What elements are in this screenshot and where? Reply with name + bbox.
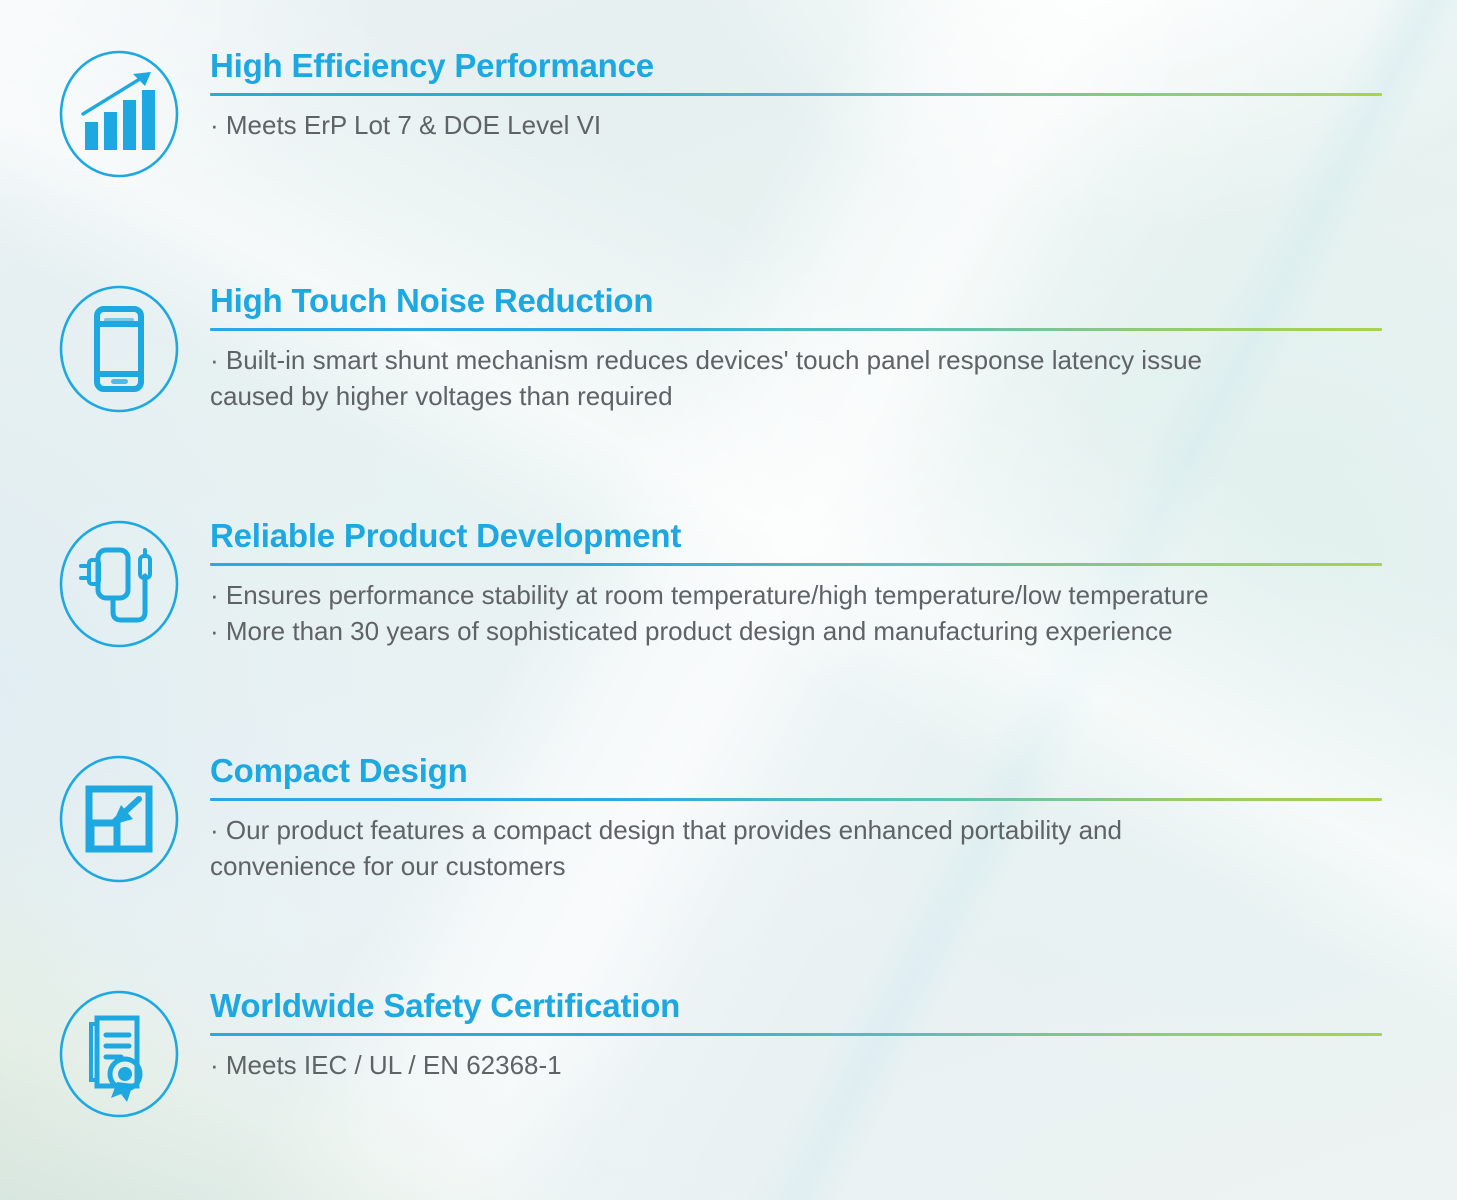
- feature-item-worldwide-safety-certification: Worldwide Safety Certification · Meets I…: [0, 988, 1457, 1118]
- feature-title: Worldwide Safety Certification: [210, 988, 1387, 1024]
- feature-item-high-touch-noise-reduction: High Touch Noise Reduction · Built-in sm…: [0, 283, 1457, 414]
- feature-text-block: Reliable Product Development · Ensures p…: [210, 518, 1457, 649]
- feature-divider-rule: [210, 93, 1382, 96]
- smartphone-icon: [55, 285, 183, 413]
- feature-description-line: · Meets ErP Lot 7 & DOE Level VI: [210, 107, 1387, 143]
- feature-description-line: convenience for our customers: [210, 848, 1387, 884]
- feature-icon-container: [55, 48, 183, 178]
- feature-text-block: Worldwide Safety Certification · Meets I…: [210, 988, 1457, 1083]
- feature-icon-container: [55, 518, 183, 648]
- feature-icon-container: [55, 753, 183, 883]
- feature-item-reliable-product-development: Reliable Product Development · Ensures p…: [0, 518, 1457, 649]
- feature-description-line: · Built-in smart shunt mechanism reduces…: [210, 342, 1387, 378]
- feature-description-line: · Ensures performance stability at room …: [210, 577, 1387, 613]
- feature-item-compact-design: Compact Design · Our product features a …: [0, 753, 1457, 884]
- feature-item-high-efficiency-performance: High Efficiency Performance · Meets ErP …: [0, 48, 1457, 178]
- feature-description-line: · Our product features a compact design …: [210, 812, 1387, 848]
- power-adapter-icon: [55, 520, 183, 648]
- feature-title: High Touch Noise Reduction: [210, 283, 1387, 319]
- compact-resize-icon: [55, 755, 183, 883]
- feature-title: Reliable Product Development: [210, 518, 1387, 554]
- feature-icon-container: [55, 283, 183, 413]
- feature-title: High Efficiency Performance: [210, 48, 1387, 84]
- feature-description: · Meets IEC / UL / EN 62368-1: [210, 1047, 1387, 1083]
- feature-icon-container: [55, 988, 183, 1118]
- feature-description: · Our product features a compact design …: [210, 812, 1387, 885]
- feature-highlights-page: High Efficiency Performance · Meets ErP …: [0, 0, 1457, 1200]
- feature-description: · Ensures performance stability at room …: [210, 577, 1387, 650]
- certificate-award-icon: [55, 990, 183, 1118]
- feature-divider-rule: [210, 798, 1382, 801]
- feature-divider-rule: [210, 1033, 1382, 1036]
- feature-text-block: Compact Design · Our product features a …: [210, 753, 1457, 884]
- feature-divider-rule: [210, 563, 1382, 566]
- feature-description-line: caused by higher voltages than required: [210, 378, 1387, 414]
- feature-title: Compact Design: [210, 753, 1387, 789]
- feature-description: · Meets ErP Lot 7 & DOE Level VI: [210, 107, 1387, 143]
- feature-description-line: · More than 30 years of sophisticated pr…: [210, 613, 1387, 649]
- feature-text-block: High Touch Noise Reduction · Built-in sm…: [210, 283, 1457, 414]
- feature-description: · Built-in smart shunt mechanism reduces…: [210, 342, 1387, 415]
- feature-text-block: High Efficiency Performance · Meets ErP …: [210, 48, 1457, 143]
- growth-bar-chart-icon: [55, 50, 183, 178]
- feature-description-line: · Meets IEC / UL / EN 62368-1: [210, 1047, 1387, 1083]
- feature-divider-rule: [210, 328, 1382, 331]
